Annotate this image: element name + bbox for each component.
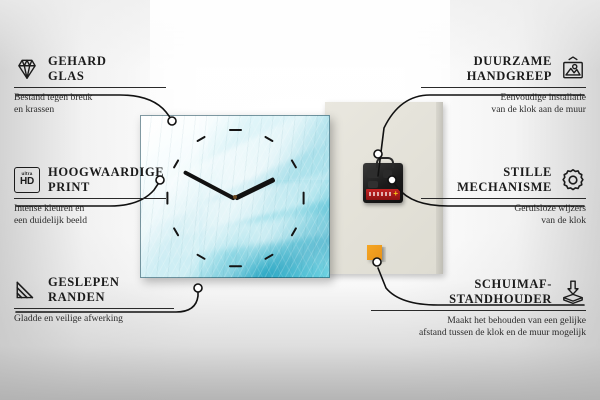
connector-node-stille-mechanisme: [388, 176, 396, 184]
connector-node-gehard-glas: [168, 117, 176, 125]
picture-hanger-icon: [560, 56, 586, 82]
foam-spacer-icon: [560, 279, 586, 305]
feature-title: STILLE MECHANISME: [457, 165, 552, 194]
feature-heading: SCHUIMAF- STANDHOUDER: [371, 277, 586, 306]
feature-title-line2: STANDHOUDER: [449, 292, 552, 307]
diamond-icon: [14, 56, 40, 82]
feature-heading: DUURZAME HANDGREEP: [421, 54, 586, 83]
feature-heading: GEHARD GLAS: [14, 54, 166, 83]
feature-desc-line2: een duidelijk beeld: [14, 215, 166, 227]
feature-title-line1: HOOGWAARDIGE: [48, 165, 164, 180]
gear-icon: [560, 167, 586, 193]
feature-title: HOOGWAARDIGE PRINT: [48, 165, 164, 194]
feature-title-line2: HANDGREEP: [467, 69, 552, 84]
feature-divider: [14, 308, 174, 309]
feature-divider: [14, 87, 166, 88]
feature-hoogwaardige-print[interactable]: ultra HD HOOGWAARDIGE PRINT Intense kleu…: [14, 165, 166, 226]
connector-node-duurzame-handgreep: [374, 150, 382, 158]
feature-desc-line1: Maakt het behouden van een gelijke: [371, 315, 586, 327]
feature-duurzame-handgreep[interactable]: DUURZAME HANDGREEP Eenvoudige installati…: [421, 54, 586, 115]
feature-title: GEHARD GLAS: [48, 54, 106, 83]
feature-title-line1: STILLE: [457, 165, 552, 180]
feature-heading: ultra HD HOOGWAARDIGE PRINT: [14, 165, 166, 194]
feature-stille-mechanisme[interactable]: STILLE MECHANISME Geruisloze wijzers van…: [421, 165, 586, 226]
feature-title: DUURZAME HANDGREEP: [467, 54, 552, 83]
feature-title-line1: GESLEPEN: [48, 275, 120, 290]
feature-desc-line1: Geruisloze wijzers: [421, 203, 586, 215]
feature-desc-line1: Gladde en veilige afwerking: [14, 313, 174, 325]
product-feature-infographic: +: [0, 0, 600, 400]
feature-heading: STILLE MECHANISME: [421, 165, 586, 194]
feature-desc-line1: Bestand tegen breuk: [14, 92, 166, 104]
feature-gehard-glas[interactable]: GEHARD GLAS Bestand tegen breuk en krass…: [14, 54, 166, 115]
feature-divider: [421, 198, 586, 199]
feature-desc-line2: van de klok aan de muur: [421, 104, 586, 116]
feature-desc-line2: en krassen: [14, 104, 166, 116]
connector-node-geslepen-randen: [194, 284, 202, 292]
beveled-edges-icon: [14, 277, 40, 303]
feature-desc-line2: van de klok: [421, 215, 586, 227]
feature-title: SCHUIMAF- STANDHOUDER: [449, 277, 552, 306]
feature-desc-line2: afstand tussen de klok en de muur mogeli…: [371, 327, 586, 339]
ultra-hd-icon-main-text: HD: [20, 177, 34, 187]
feature-title-line1: SCHUIMAF-: [449, 277, 552, 292]
feature-desc-line1: Intense kleuren en: [14, 203, 166, 215]
feature-schuimafstandhouder[interactable]: SCHUIMAF- STANDHOUDER Maakt het behouden…: [371, 277, 586, 338]
feature-title-line2: GLAS: [48, 69, 106, 84]
connector-node-schuimafstandhouder: [373, 258, 381, 266]
clock-center-pin: [233, 195, 237, 199]
feature-divider: [421, 87, 586, 88]
feature-divider: [371, 310, 586, 311]
feature-title-line2: MECHANISME: [457, 180, 552, 195]
feature-heading: GESLEPEN RANDEN: [14, 275, 174, 304]
feature-title-line1: GEHARD: [48, 54, 106, 69]
ultra-hd-icon: ultra HD: [14, 167, 40, 193]
feature-divider: [14, 198, 166, 199]
feature-geslepen-randen[interactable]: GESLEPEN RANDEN Gladde en veilige afwerk…: [14, 275, 174, 325]
feature-title-line1: DUURZAME: [467, 54, 552, 69]
feature-title-line2: RANDEN: [48, 290, 120, 305]
feature-desc-line1: Eenvoudige installatie: [421, 92, 586, 104]
feature-title-line2: PRINT: [48, 180, 164, 195]
feature-title: GESLEPEN RANDEN: [48, 275, 120, 304]
